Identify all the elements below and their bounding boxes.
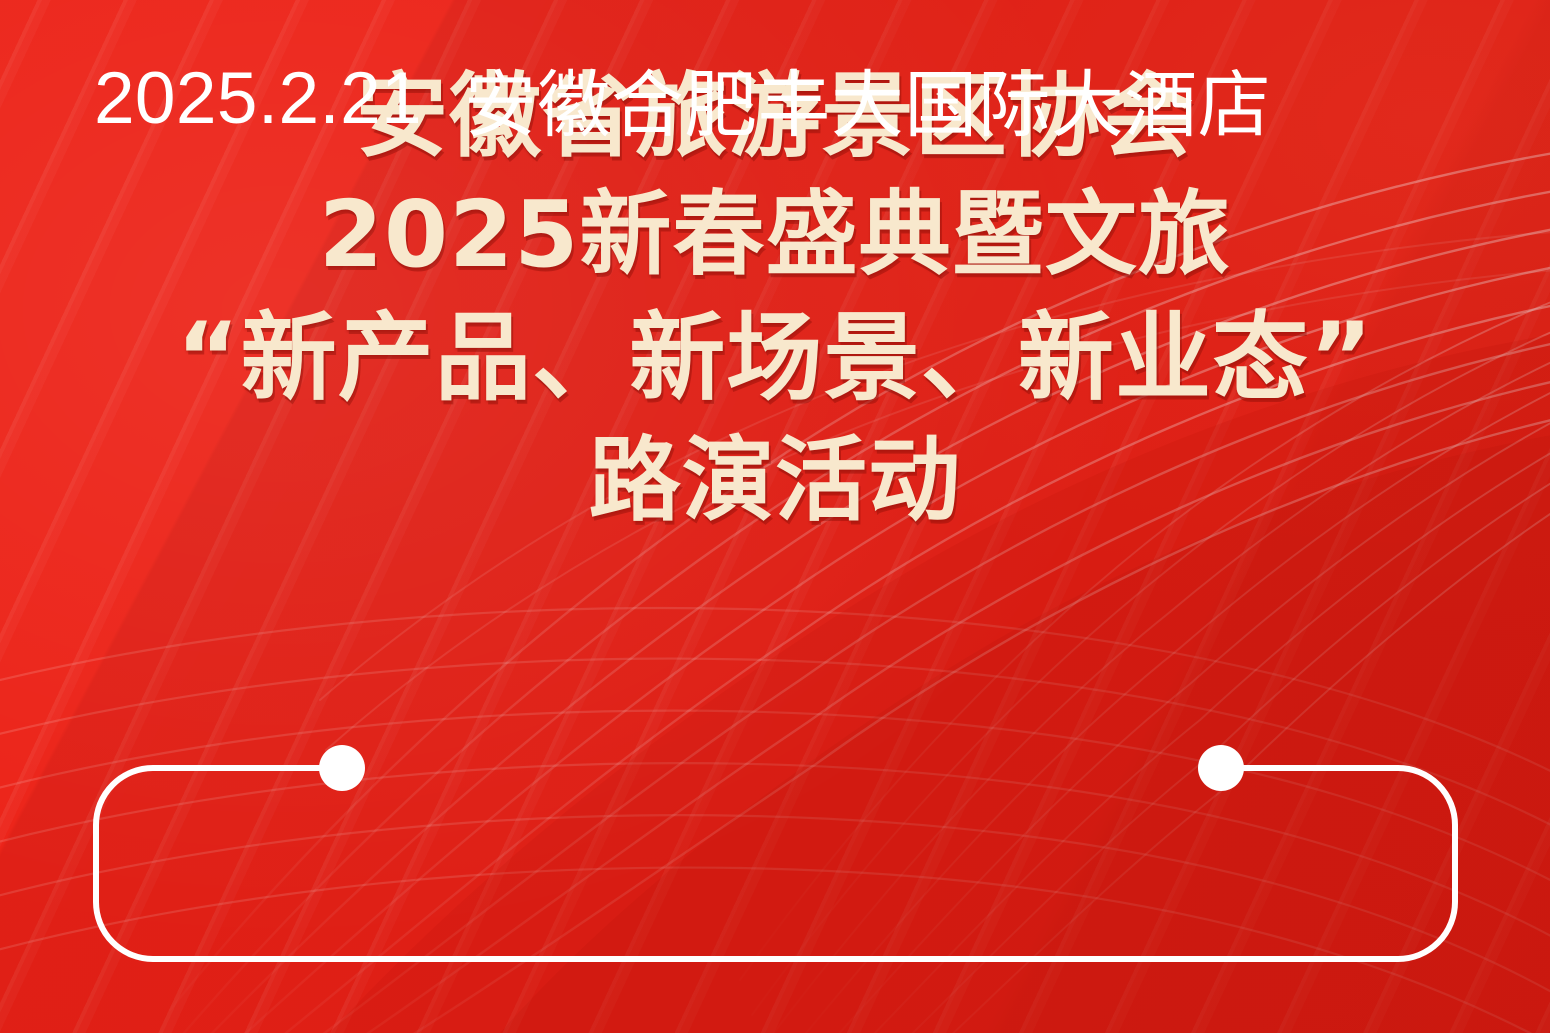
title-line-event: 2025新春盛典暨文旅 (0, 176, 1550, 294)
title-line-theme: “新产品、新场景、新业态” (0, 294, 1550, 422)
footer-info-box (93, 765, 1458, 962)
title-line-organization: 安徽省旅游景区协会 (0, 58, 1550, 176)
footer-box-outline (96, 768, 1455, 959)
poster-title-block: 安徽省旅游景区协会 2025新春盛典暨文旅 “新产品、新场景、新业态” 路演活动 (0, 58, 1550, 540)
event-poster: 安徽省旅游景区协会 2025新春盛典暨文旅 “新产品、新场景、新业态” 路演活动… (0, 0, 1550, 1033)
left-dot-marker-icon (319, 745, 365, 791)
title-line-activity: 路演活动 (0, 422, 1550, 540)
right-dot-marker-icon (1198, 745, 1244, 791)
